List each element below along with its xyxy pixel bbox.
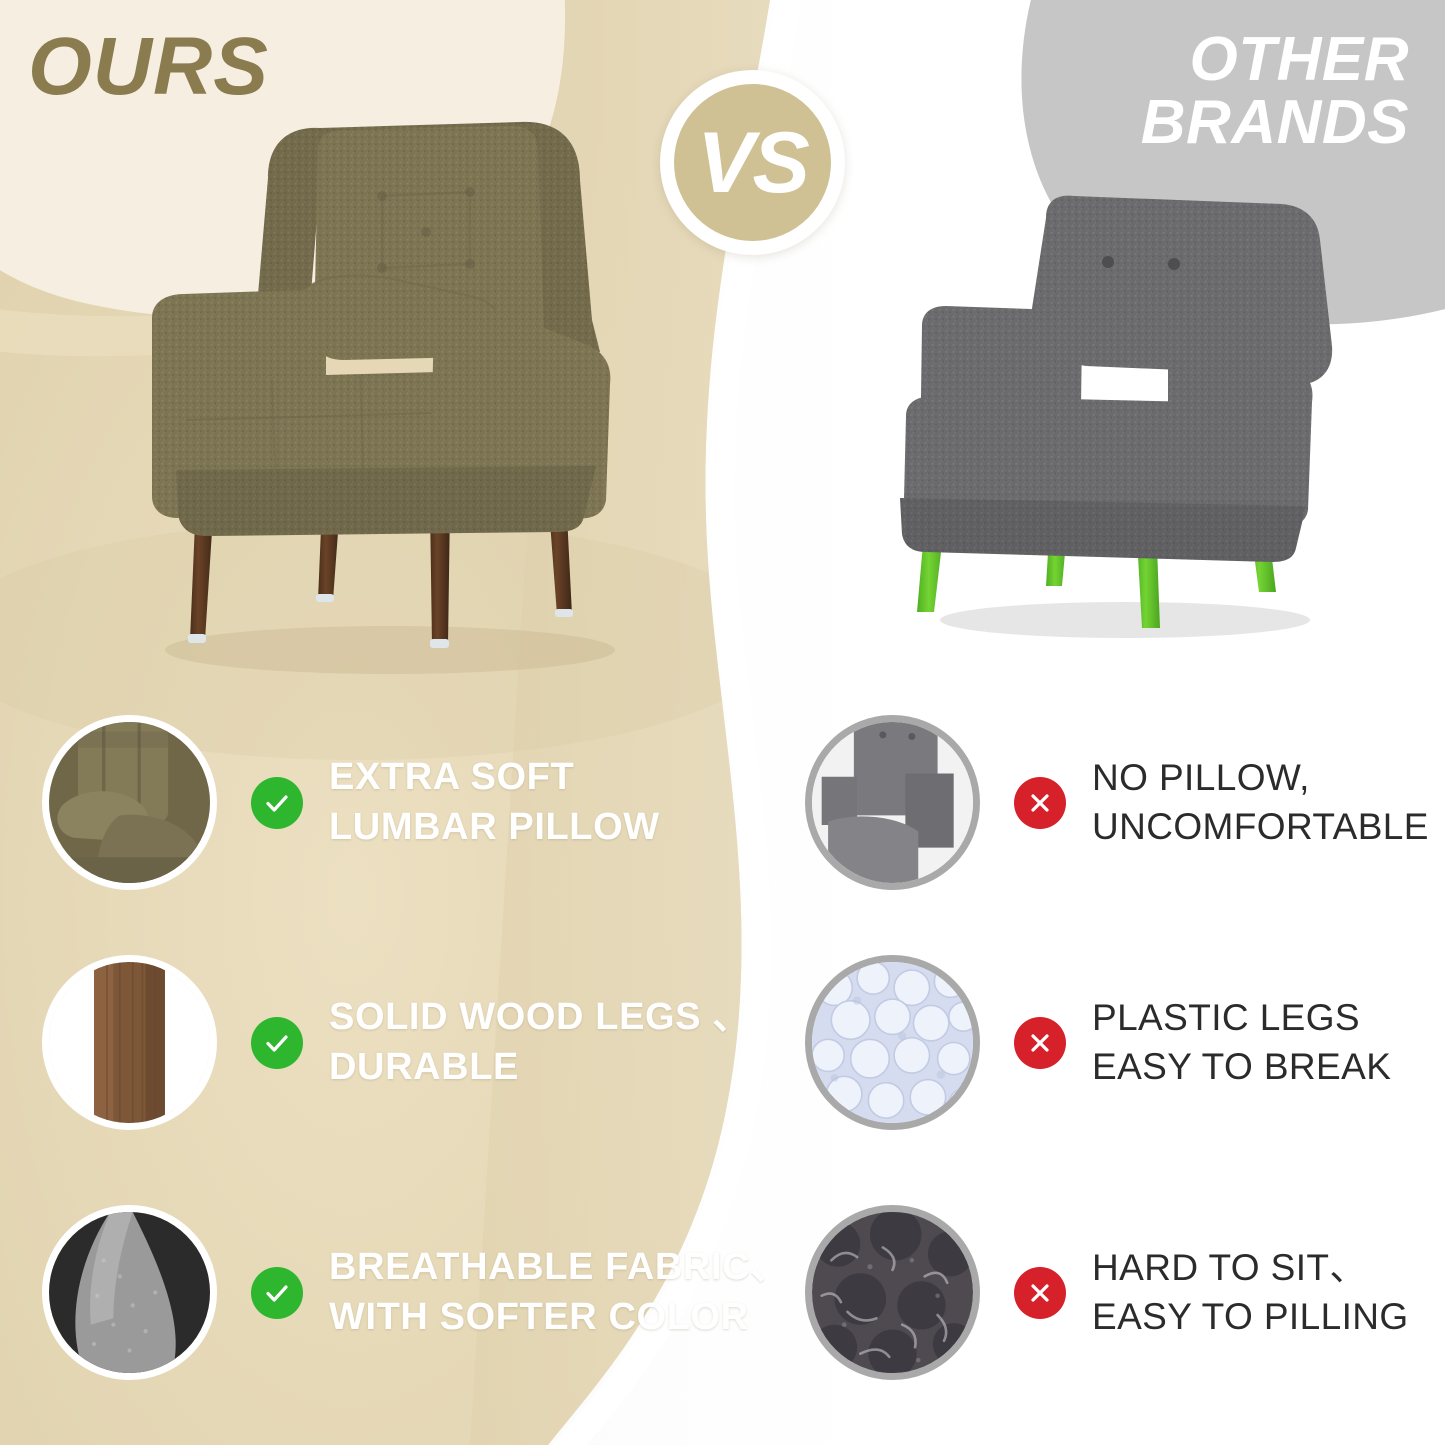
thumbnail-no-pillow <box>805 715 980 890</box>
other-brands-line-1: OTHER <box>989 28 1409 91</box>
thumbnail-pilled-fabric <box>805 1205 980 1380</box>
other-feature-row: NO PILLOW, UNCOMFORTABLE <box>805 715 1445 890</box>
ours-feature-line-2: WITH SOFTER COLOR <box>329 1293 789 1342</box>
check-icon <box>251 777 303 829</box>
thumbnail-breathable-fabric <box>42 1205 217 1380</box>
other-feature-text: HARD TO SIT、 EASY TO PILLING <box>1092 1244 1409 1340</box>
ours-feature-line-2: LUMBAR PILLOW <box>329 803 660 852</box>
ours-feature-row: BREATHABLE FABRIC、 WITH SOFTER COLOR <box>42 1205 742 1380</box>
ours-feature-line-1: EXTRA SOFT <box>329 753 660 802</box>
other-feature-line-2: EASY TO BREAK <box>1092 1043 1391 1091</box>
ours-feature-line-1: SOLID WOOD LEGS 、 <box>329 993 751 1042</box>
ours-feature-line-2: DURABLE <box>329 1043 751 1092</box>
other-feature-row: PLASTIC LEGS EASY TO BREAK <box>805 955 1445 1130</box>
vs-badge-circle: VS <box>674 84 831 241</box>
ours-feature-row: EXTRA SOFT LUMBAR PILLOW <box>42 715 742 890</box>
other-feature-text: NO PILLOW, UNCOMFORTABLE <box>1092 754 1429 850</box>
ours-feature-line-1: BREATHABLE FABRIC、 <box>329 1243 789 1292</box>
other-feature-line-1: HARD TO SIT、 <box>1092 1244 1409 1292</box>
other-feature-line-2: UNCOMFORTABLE <box>1092 803 1429 851</box>
other-brands-line-2: BRANDS <box>989 91 1409 154</box>
other-feature-line-1: NO PILLOW, <box>1092 754 1429 802</box>
other-feature-text: PLASTIC LEGS EASY TO BREAK <box>1092 994 1391 1090</box>
cross-icon <box>1014 1017 1066 1069</box>
check-icon <box>251 1017 303 1069</box>
cross-icon <box>1014 1267 1066 1319</box>
vs-badge: VS <box>660 70 845 255</box>
ours-feature-text: BREATHABLE FABRIC、 WITH SOFTER COLOR <box>329 1243 789 1342</box>
ours-heading: OURS <box>28 26 269 108</box>
cross-icon <box>1014 777 1066 829</box>
ours-feature-text: EXTRA SOFT LUMBAR PILLOW <box>329 753 660 852</box>
ours-feature-row: SOLID WOOD LEGS 、 DURABLE <box>42 955 742 1130</box>
check-icon <box>251 1267 303 1319</box>
thumbnail-plastic-pellets <box>805 955 980 1130</box>
thumbnail-lumbar-pillow <box>42 715 217 890</box>
other-feature-line-2: EASY TO PILLING <box>1092 1293 1409 1341</box>
comparison-infographic: OURS OTHER BRANDS VS EXTRA SOFT <box>0 0 1445 1445</box>
thumbnail-wood-leg <box>42 955 217 1130</box>
other-feature-line-1: PLASTIC LEGS <box>1092 994 1391 1042</box>
vs-label: VS <box>697 120 808 206</box>
ours-feature-text: SOLID WOOD LEGS 、 DURABLE <box>329 993 751 1092</box>
other-feature-row: HARD TO SIT、 EASY TO PILLING <box>805 1205 1445 1380</box>
other-brands-heading: OTHER BRANDS <box>989 28 1409 154</box>
